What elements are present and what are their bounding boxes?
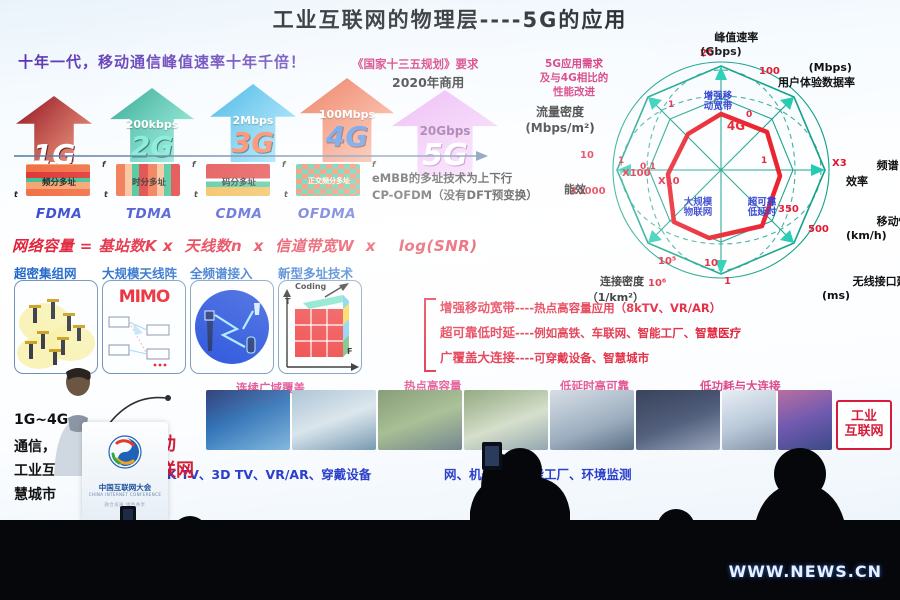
screenshot-root: 工业互联网的物理层----5G的应用 十年一代，移动通信峰值速率十年千倍！ 《国…	[0, 0, 900, 600]
axis-label-t: T	[285, 297, 290, 306]
embb-note-line1: eMBB的多址技术为上下行	[372, 171, 512, 185]
axis-name: 用户体验数据率	[778, 76, 855, 89]
multiple-access-cube-ofdma: 正交频分多址	[290, 160, 368, 202]
scene-photo-1	[292, 390, 376, 450]
radar-axis-title-user-rate: (Mbps)用户体验数据率	[778, 48, 896, 103]
tech-box-0	[14, 280, 98, 374]
scenario-detail: ----可穿戴设备、智慧城市	[515, 351, 649, 365]
radar-tick-traffic-density-mid: 1	[618, 156, 624, 166]
plan-requirement-text: 《国家十三五规划》要求	[352, 58, 479, 71]
embb-note: eMBB的多址技术为上下行CP-OFDM（没有DFT预变换）	[372, 170, 538, 203]
multiple-access-acronym-tdma: TDMA	[105, 206, 193, 222]
radar-axis-title-peak-rate: 峰值速率(Gbps)	[656, 16, 786, 71]
axis-label-t: t	[104, 190, 108, 199]
radar-tick-latency-mid: 10	[704, 258, 718, 269]
scenario-detail: ----例如高铁、车联网、智能工厂、智慧医疗	[515, 326, 741, 340]
radar-axis-title-air-interface-latency: 无线接口延时(ms)	[822, 260, 900, 315]
radar-tick-conn-density-mid: 10⁵	[658, 256, 676, 267]
coding-cube-icon	[279, 281, 361, 373]
axis-unit: (ms)	[822, 289, 850, 302]
radar-region-label-urllc: 超可靠 低延时	[734, 198, 790, 219]
scene-photo-4	[550, 390, 634, 450]
industrial-internet-badge: 工业 互联网	[836, 400, 892, 450]
axis-unit: (Mbps/m²)	[525, 121, 594, 135]
axis-name: 能效	[564, 183, 586, 196]
radar-tick-traffic-density: 10	[580, 150, 594, 161]
antenna-cluster-icon	[15, 281, 97, 373]
logo-icon	[107, 434, 143, 470]
radar-chart: 20 100 X3 500 350 1 10 10⁶ 10⁵ X1000 X10…	[596, 52, 846, 288]
mimo-diagram-icon	[103, 311, 185, 371]
axis-label-t: t	[14, 190, 18, 199]
tech-box-1: MIMO	[102, 280, 186, 374]
coding-label: Coding	[295, 282, 326, 291]
axis-label-f: f	[192, 160, 195, 169]
axis-unit: (Mbps)	[809, 61, 852, 74]
slide-headline: 十年一代，移动通信峰值速率十年千倍！	[18, 54, 306, 71]
multiple-access-acronym-cdma: CDMA	[195, 206, 283, 222]
axis-name: 连接密度	[600, 275, 644, 288]
axis-label-f: f	[102, 160, 105, 169]
left-text-line-3: 慧城市	[14, 484, 56, 504]
plan-commercial-text: 2020年商用	[392, 76, 464, 90]
generation-speed: 20Gbps	[392, 124, 498, 138]
axis-label-t: t	[194, 190, 198, 199]
multiple-access-label: 时分多址	[110, 176, 188, 188]
mimo-icon: MIMO	[103, 287, 185, 307]
radar-tick-latency: 1	[724, 276, 731, 287]
radar-tick-spectrum: X3	[832, 158, 847, 169]
axis-name: 峰值速率	[714, 31, 758, 44]
multiple-access-cube-cdma: 码分多址	[200, 160, 278, 202]
china-internet-conference-logo	[82, 434, 168, 474]
multiple-access-cube-fdma: 频分多址	[20, 160, 98, 202]
scenario-title: 超可靠低时延	[440, 325, 515, 340]
tech-box-2	[190, 280, 274, 374]
bottom-dark-band	[0, 520, 900, 600]
scene-photo-6	[722, 390, 776, 450]
axis-name: 流量密度	[536, 105, 584, 119]
axis-label-f: f	[282, 160, 285, 169]
radar-axis-title-spectrum-efficiency: 频谱效率	[846, 144, 900, 202]
scenario-bracket-icon	[424, 298, 436, 372]
radar-tick-one-right: 1	[761, 156, 767, 166]
bottom-caption-right: 网、机器人、智能工厂、环境监测	[444, 464, 632, 483]
generation-arrow-5g: 20Gbps 5G	[392, 90, 498, 176]
podium: 中国互联网大会 CHINA INTERNET CONFERENCE 融合发展 绿…	[82, 422, 168, 522]
scenario-line-1: 超可靠低时延----例如高铁、车联网、智能工厂、智慧医疗	[440, 322, 741, 341]
radar-tick-one-upper: 1	[668, 100, 674, 110]
embb-note-line2: CP-OFDM（没有DFT预变换）	[372, 188, 538, 202]
generation-name: 4G	[300, 120, 394, 153]
scene-photo-5	[636, 390, 720, 450]
podium-subtitle: CHINA INTERNET CONFERENCE	[82, 492, 168, 497]
scenario-line-2: 广覆盖大连接----可穿戴设备、智慧城市	[440, 347, 649, 366]
multiple-access-label: 正交频分多址	[290, 176, 368, 186]
multiple-access-label: 码分多址	[200, 176, 278, 188]
radar-tick-energy-inner: X10	[658, 176, 680, 187]
scene-photo-7	[778, 390, 832, 450]
radar-axis-title-energy-efficiency: 能效	[520, 168, 586, 210]
scene-photo-3	[464, 390, 548, 450]
radar-region-label-embb: 增强移 动宽带	[688, 92, 748, 113]
axis-label-f: f	[372, 160, 375, 169]
radar-series-label-4g: 4G	[722, 120, 750, 133]
spectrum-access-icon	[191, 281, 273, 373]
radar-region-label-mmtc: 大规模 物联网	[670, 198, 726, 219]
radar-axis-title-mobility: 移动性(km/h)	[846, 200, 900, 255]
axis-label-t: t	[284, 190, 288, 199]
watermark: WWW.NEWS.CN	[729, 562, 882, 581]
scene-photo-0	[206, 390, 290, 450]
axis-unit: (Gbps)	[700, 45, 741, 58]
scenario-title: 增强移动宽带	[440, 300, 515, 315]
radar-tick-traffic-density-inner: 0.1	[640, 162, 656, 172]
radar-axis-title-connection-density: 连接密度（1/km²）	[524, 260, 644, 318]
multiple-access-acronym-ofdma: OFDMA	[283, 206, 371, 222]
multiple-access-cube-tdma: 时分多址	[110, 160, 188, 202]
axis-name: 移动性	[877, 215, 900, 228]
scene-photo-2	[378, 390, 462, 450]
multiple-access-label: 频分多址	[20, 176, 98, 188]
tech-box-3: Coding T F	[278, 280, 362, 374]
radar-tick-conn-density: 10⁶	[648, 278, 666, 289]
axis-unit: (km/h)	[846, 229, 887, 242]
scenario-title: 广覆盖大连接	[440, 350, 515, 365]
axis-name: 无线接口延时	[853, 275, 900, 288]
capacity-formula: 网络容量 = 基站数K x 天线数n x 信道带宽W x log(SNR)	[12, 238, 478, 255]
axis-unit: （1/km²）	[587, 291, 644, 304]
radar-tick-mobility: 500	[808, 224, 829, 235]
podium-tagline: 融合发展 绿色共享	[82, 502, 168, 508]
multiple-access-acronym-fdma: FDMA	[15, 206, 103, 222]
axis-label-f: F	[347, 347, 352, 356]
